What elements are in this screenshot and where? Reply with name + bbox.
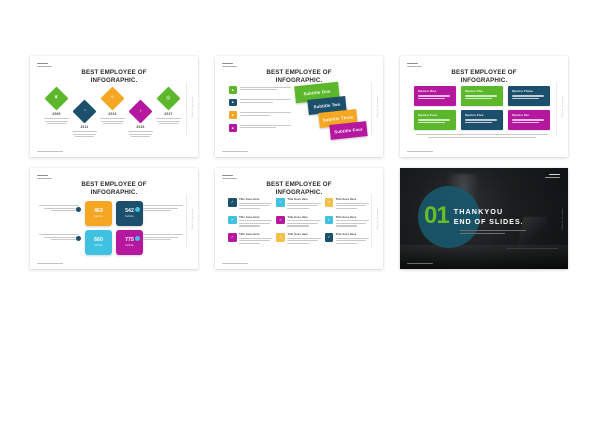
check-icon: ✓ <box>325 198 334 207</box>
timeline-year: 2013 <box>99 112 126 116</box>
option-box[interactable]: Option Five <box>461 110 503 130</box>
side-label: Slide Presentation <box>192 208 194 229</box>
check-icon: ✓ <box>228 198 237 207</box>
slide-footer <box>37 263 63 264</box>
timeline-desc <box>127 131 154 137</box>
page-title: BEST EMPLOYEE OF INFOGRAPHIC. <box>400 69 568 85</box>
marker-dot <box>135 236 140 241</box>
slide-footer <box>222 151 248 152</box>
option-box[interactable]: Option Six <box>508 110 550 130</box>
feature-heading: Title Goes Here <box>287 216 320 219</box>
brand-logo <box>222 175 237 180</box>
clock-icon: ◔ <box>72 99 96 123</box>
feature-text: Title Goes Here <box>336 198 369 211</box>
slide-cell-4: Slide Presentation BEST EMPLOYEE OF INFO… <box>22 165 207 277</box>
title-line-1: BEST EMPLOYEE OF <box>266 181 331 188</box>
thank-you-block: 01 THANKYOU END OF SLIDES. <box>424 206 523 226</box>
timeline: ❦ 2009 ◔ 2011 ✧ 2013 ♀ <box>43 90 185 146</box>
slide-thumbnail-grid: Slide Presentation BEST EMPLOYEE OF INFO… <box>22 53 577 277</box>
slide-footer <box>222 263 248 264</box>
headline-line-2: END OF SLIDES. <box>454 217 524 227</box>
option-box-text <box>465 95 499 99</box>
slide-stat-tiles[interactable]: Slide Presentation BEST EMPLOYEE OF INFO… <box>30 168 198 269</box>
check-icon: ✓ <box>276 233 285 242</box>
feature-item[interactable]: ✓ Title Goes Here <box>228 233 272 246</box>
corner-rule <box>506 248 558 249</box>
page-title: BEST EMPLOYEE OF INFOGRAPHIC. <box>30 181 198 197</box>
feature-heading: Title Goes Here <box>336 216 369 219</box>
timeline-year: 2015 <box>127 125 154 129</box>
stat-value: 542 <box>125 209 134 214</box>
slide-footer <box>407 151 433 152</box>
divider <box>556 82 557 135</box>
slide-cell-2: Slide Presentation BEST EMPLOYEE OF INFO… <box>207 53 392 165</box>
timeline-year: 2009 <box>43 112 70 116</box>
brand-logo <box>37 175 52 180</box>
slide-cell-3: Slide Presentation BEST EMPLOYEE OF INFO… <box>392 53 577 165</box>
option-box-label: Option Five <box>465 113 499 117</box>
list-item-text <box>240 86 292 92</box>
option-box-text <box>418 95 452 99</box>
headline: THANKYOU END OF SLIDES. <box>454 206 524 226</box>
feature-heading: Title Goes Here <box>287 198 320 201</box>
list-item-text <box>240 124 292 130</box>
divider <box>186 194 187 247</box>
feature-heading: Title Goes Here <box>287 233 320 236</box>
side-label: Slide Presentation <box>562 96 564 117</box>
slide-six-boxes[interactable]: Slide Presentation BEST EMPLOYEE OF INFO… <box>400 56 568 157</box>
brand-logo <box>37 63 52 68</box>
brand-logo <box>407 63 422 68</box>
timeline-desc <box>43 118 70 124</box>
gear-icon: ■ <box>229 111 237 119</box>
thank-you-subtext <box>460 230 526 235</box>
stat-tile[interactable]: 463 Subtitle <box>85 201 112 226</box>
stat-caption: Subtitle <box>94 245 102 247</box>
check-icon: ✓ <box>228 216 237 225</box>
brand-logo <box>545 174 560 179</box>
feature-heading: Title Goes Here <box>239 233 272 236</box>
stacked-cards: Subtitle One Subtitle Two Subtitle Three… <box>289 84 371 146</box>
target-icon: ◎ <box>156 86 180 110</box>
stat-tile[interactable]: 775 Subtitle <box>116 230 143 255</box>
marker-dot <box>76 207 81 212</box>
timeline-year: 2017 <box>155 112 182 116</box>
list-item-text <box>240 99 292 105</box>
stat-value: 463 <box>94 209 103 214</box>
stat-desc-right-top <box>143 205 183 213</box>
feature-list: ■ ■ ■ ■ <box>229 86 291 137</box>
page-title: BEST EMPLOYEE OF INFOGRAPHIC. <box>215 69 383 85</box>
option-box[interactable]: Option One <box>414 86 456 106</box>
title-line-1: BEST EMPLOYEE OF <box>451 69 516 76</box>
feature-item[interactable]: ✓ Title Goes Here <box>325 233 369 246</box>
stat-value: 775 <box>125 238 134 243</box>
check-icon: ✓ <box>325 216 334 225</box>
timeline-desc <box>99 118 126 124</box>
page-title: BEST EMPLOYEE OF INFOGRAPHIC. <box>30 69 198 85</box>
feature-item[interactable]: ✓ Title Goes Here <box>228 198 272 211</box>
feature-item[interactable]: ✓ Title Goes Here <box>325 216 369 229</box>
user-icon: ■ <box>229 124 237 132</box>
feature-text: Title Goes Here <box>336 233 369 246</box>
trophy-icon: ♀ <box>128 99 152 123</box>
stat-caption: Subtitle <box>94 216 102 218</box>
slide-footer <box>37 151 63 152</box>
stat-value: 660 <box>94 238 103 243</box>
stat-tile[interactable]: 660 Subtitle <box>85 230 112 255</box>
side-label: Slide Presentation <box>377 96 379 117</box>
stat-tile[interactable]: 542 Subtitle <box>116 201 143 226</box>
title-line-2: INFOGRAPHIC. <box>400 77 568 85</box>
feature-heading: Title Goes Here <box>239 216 272 219</box>
slide-nine-features[interactable]: Slide Presentation BEST EMPLOYEE OF INFO… <box>215 168 383 269</box>
stat-caption: Subtitle <box>125 216 133 218</box>
feature-item[interactable]: ✓ Title Goes Here <box>276 198 320 211</box>
headline-line-1: THANKYOU <box>454 207 524 217</box>
feature-text: Title Goes Here <box>336 216 369 229</box>
slide-footer <box>407 263 433 264</box>
option-box-text <box>418 119 452 123</box>
stat-desc-left-bottom <box>39 234 79 242</box>
option-box-grid: Option One Option Two Option Three Optio… <box>414 86 550 130</box>
feature-text: Title Goes Here <box>287 198 320 211</box>
side-label: Slide Presentation <box>377 208 379 229</box>
check-icon: ✓ <box>276 198 285 207</box>
slide-deck-sheet: Slide Presentation BEST EMPLOYEE OF INFO… <box>0 0 600 429</box>
option-box[interactable]: Option Two <box>461 86 503 106</box>
check-icon: ✓ <box>325 233 334 242</box>
feature-text: Title Goes Here <box>239 198 272 211</box>
brand-logo <box>222 63 237 68</box>
list-item[interactable]: ■ <box>229 99 291 107</box>
check-icon: ✓ <box>228 233 237 242</box>
side-label: Slide Presentation <box>562 208 564 229</box>
list-item[interactable]: ■ <box>229 86 291 94</box>
card-subtitle-four[interactable]: Subtitle Four <box>329 121 367 140</box>
slide-cell-5: Slide Presentation BEST EMPLOYEE OF INFO… <box>207 165 392 277</box>
timeline-year: 2011 <box>71 125 98 129</box>
title-line-1: BEST EMPLOYEE OF <box>266 69 331 76</box>
timeline-item[interactable]: ✧ 2013 <box>99 90 126 126</box>
marker-dot <box>76 236 81 241</box>
list-item[interactable]: ■ <box>229 111 291 119</box>
title-line-2: INFOGRAPHIC. <box>215 189 383 197</box>
stat-desc-left-top <box>39 205 79 213</box>
slide-thank-you[interactable]: Slide Presentation 01 THANKYOU END OF SL… <box>400 168 568 269</box>
lightbulb-icon: ✧ <box>100 86 124 110</box>
option-box-label: Option Two <box>465 89 499 93</box>
slide-list-cards[interactable]: Slide Presentation BEST EMPLOYEE OF INFO… <box>215 56 383 157</box>
timeline-item[interactable]: ♀ 2015 <box>127 103 154 139</box>
chart-icon: ■ <box>229 99 237 107</box>
option-box-label: Option One <box>418 89 452 93</box>
option-box-label: Option Three <box>512 89 546 93</box>
grid-icon: ■ <box>229 86 237 94</box>
title-line-1: BEST EMPLOYEE OF <box>81 181 146 188</box>
divider <box>371 82 372 135</box>
feature-item[interactable]: ✓ Title Goes Here <box>325 198 369 211</box>
leaf-icon: ❦ <box>44 86 68 110</box>
feature-heading: Title Goes Here <box>336 198 369 201</box>
timeline-item[interactable]: ◎ 2017 <box>155 90 182 126</box>
list-item[interactable]: ■ <box>229 124 291 132</box>
divider <box>371 194 372 247</box>
slide-note <box>416 134 548 139</box>
timeline-desc <box>155 118 182 124</box>
option-box-text <box>465 119 499 123</box>
marker-dot <box>135 207 140 212</box>
slide-cell-6: Slide Presentation 01 THANKYOU END OF SL… <box>392 165 577 277</box>
title-line-2: INFOGRAPHIC. <box>30 77 198 85</box>
option-box-text <box>512 95 546 99</box>
feature-text: Title Goes Here <box>287 216 320 229</box>
feature-item[interactable]: ✓ Title Goes Here <box>276 216 320 229</box>
check-icon: ✓ <box>276 216 285 225</box>
divider <box>186 82 187 135</box>
option-box-label: Option Four <box>418 113 452 117</box>
feature-text: Title Goes Here <box>239 233 272 246</box>
feature-grid: ✓ Title Goes Here ✓ Title Goes Here <box>228 198 369 246</box>
slide-cell-1: Slide Presentation BEST EMPLOYEE OF INFO… <box>22 53 207 165</box>
page-title: BEST EMPLOYEE OF INFOGRAPHIC. <box>215 181 383 197</box>
slide-number: 01 <box>424 206 449 226</box>
title-line-2: INFOGRAPHIC. <box>30 189 198 197</box>
feature-heading: Title Goes Here <box>336 233 369 236</box>
feature-item[interactable]: ✓ Title Goes Here <box>276 233 320 246</box>
feature-text: Title Goes Here <box>287 233 320 246</box>
stat-caption: Subtitle <box>125 245 133 247</box>
option-box-text <box>512 119 546 123</box>
side-label: Slide Presentation <box>192 96 194 117</box>
feature-item[interactable]: ✓ Title Goes Here <box>228 216 272 229</box>
stat-desc-right-bottom <box>143 234 183 242</box>
feature-heading: Title Goes Here <box>239 198 272 201</box>
title-line-1: BEST EMPLOYEE OF <box>81 69 146 76</box>
option-box[interactable]: Option Three <box>508 86 550 106</box>
timeline-item[interactable]: ◔ 2011 <box>71 103 98 139</box>
timeline-item[interactable]: ❦ 2009 <box>43 90 70 126</box>
option-box-label: Option Six <box>512 113 546 117</box>
timeline-desc <box>71 131 98 137</box>
option-box[interactable]: Option Four <box>414 110 456 130</box>
slide-timeline-diamonds[interactable]: Slide Presentation BEST EMPLOYEE OF INFO… <box>30 56 198 157</box>
list-item-text <box>240 111 292 117</box>
feature-text: Title Goes Here <box>239 216 272 229</box>
